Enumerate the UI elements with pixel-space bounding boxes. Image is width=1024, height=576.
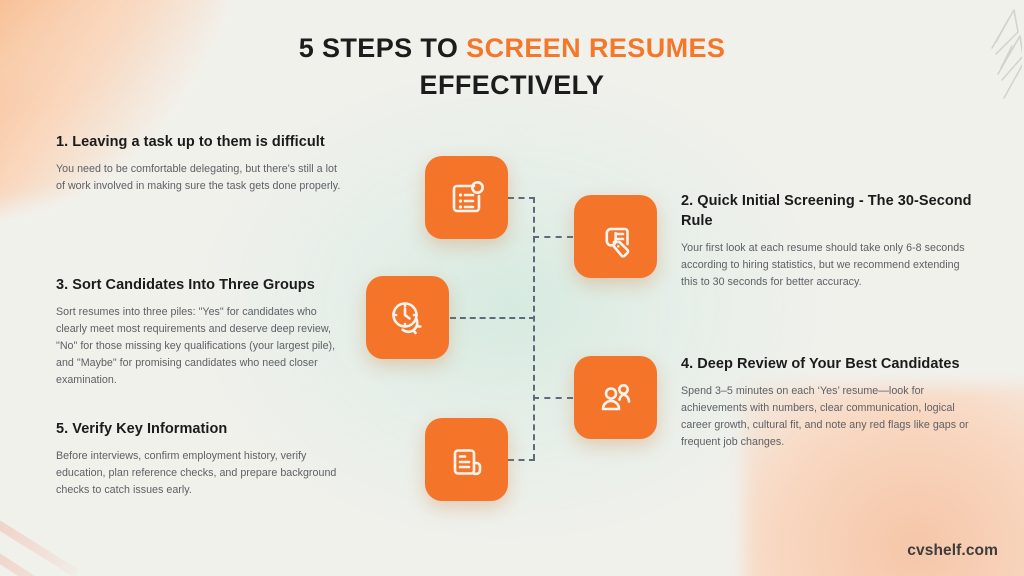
title-accent-text: SCREEN RESUMES [466, 33, 725, 63]
double-clock-icon [385, 295, 431, 341]
step-5-heading: 5. Verify Key Information [56, 419, 348, 439]
documents-tag-icon [593, 214, 639, 260]
step-1-heading: 1. Leaving a task up to them is difficul… [56, 132, 348, 152]
connector-vertical-spine [533, 197, 535, 460]
step-3-text-block: 3. Sort Candidates Into Three Groups Sor… [56, 275, 348, 389]
step-5-text-block: 5. Verify Key Information Before intervi… [56, 419, 348, 499]
step-1-icon-tile[interactable] [425, 156, 508, 239]
connector-step-5 [508, 459, 535, 461]
site-watermark: cvshelf.com [907, 542, 998, 560]
step-4-text-block: 4. Deep Review of Your Best Candidates S… [681, 354, 976, 451]
step-2-heading: 2. Quick Initial Screening - The 30-Seco… [681, 191, 976, 231]
checklist-badge-icon [444, 175, 490, 221]
step-3-heading: 3. Sort Candidates Into Three Groups [56, 275, 348, 295]
step-3-body: Sort resumes into three piles: "Yes" for… [56, 304, 348, 389]
page-title: 5 STEPS TO SCREEN RESUMES EFFECTIVELY [0, 30, 1024, 104]
step-3-icon-tile[interactable] [366, 276, 449, 359]
step-4-icon-tile[interactable] [574, 356, 657, 439]
document-lines-icon [444, 437, 490, 483]
step-2-icon-tile[interactable] [574, 195, 657, 278]
two-people-icon [593, 375, 639, 421]
step-1-body: You need to be comfortable delegating, b… [56, 161, 348, 195]
title-line-1: 5 STEPS TO SCREEN RESUMES [0, 30, 1024, 67]
step-5-body: Before interviews, confirm employment hi… [56, 448, 348, 499]
connector-step-4 [533, 397, 573, 399]
connector-step-3 [450, 317, 535, 319]
infographic-canvas: 5 STEPS TO SCREEN RESUMES EFFECTIVELY 1.… [0, 0, 1024, 576]
step-4-body: Spend 3–5 minutes on each ‘Yes’ resume—l… [681, 383, 976, 451]
connector-step-1 [508, 197, 535, 199]
step-2-body: Your first look at each resume should ta… [681, 240, 976, 291]
step-4-heading: 4. Deep Review of Your Best Candidates [681, 354, 976, 374]
step-5-icon-tile[interactable] [425, 418, 508, 501]
title-plain-text: 5 STEPS TO [299, 33, 466, 63]
connector-step-2 [533, 236, 573, 238]
step-2-text-block: 2. Quick Initial Screening - The 30-Seco… [681, 191, 976, 291]
title-line-2: EFFECTIVELY [0, 67, 1024, 104]
step-1-text-block: 1. Leaving a task up to them is difficul… [56, 132, 348, 195]
